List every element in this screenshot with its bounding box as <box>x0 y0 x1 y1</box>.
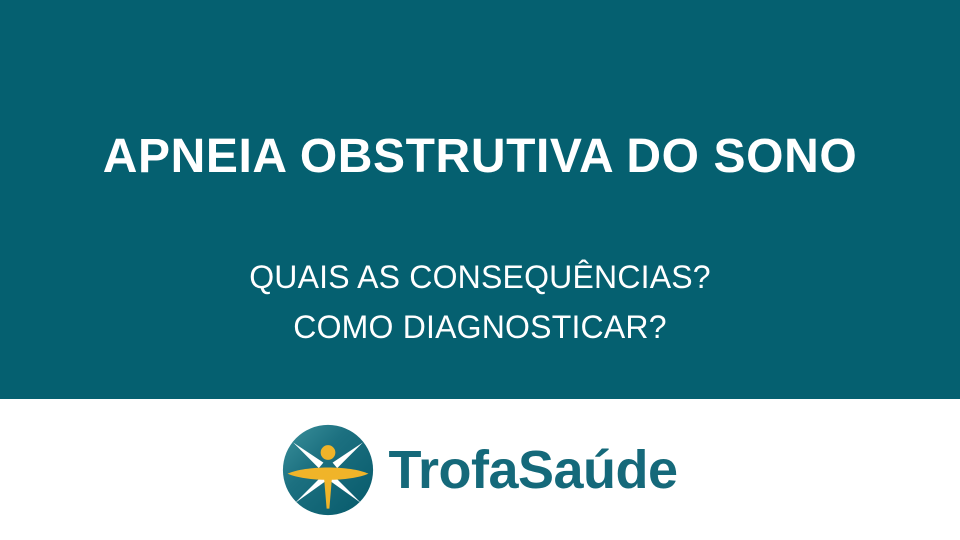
brand-wordmark: TrofaSaúde <box>388 424 677 516</box>
brand-lockup: TrofaSaúde <box>0 399 960 540</box>
title-panel: APNEIA OBSTRUTIVA DO SONO QUAIS AS CONSE… <box>0 0 960 399</box>
presentation-slide: APNEIA OBSTRUTIVA DO SONO QUAIS AS CONSE… <box>0 0 960 540</box>
slide-title: APNEIA OBSTRUTIVA DO SONO <box>0 128 960 186</box>
slide-subtitle: QUAIS AS CONSEQUÊNCIAS? COMO DIAGNOSTICA… <box>0 252 960 352</box>
slide-subtitle-line-2: COMO DIAGNOSTICAR? <box>0 302 960 352</box>
trofasaude-star-figure-logo-icon <box>282 424 374 516</box>
slide-subtitle-line-1: QUAIS AS CONSEQUÊNCIAS? <box>0 252 960 302</box>
footer-band: TrofaSaúde <box>0 399 960 540</box>
